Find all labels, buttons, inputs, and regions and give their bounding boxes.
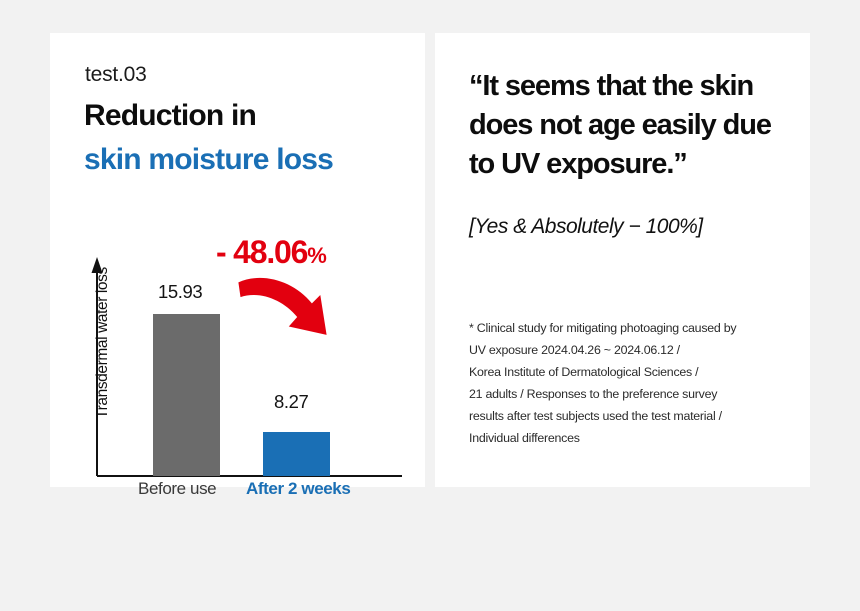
footnote-line: 21 adults / Responses to the preference …	[469, 383, 799, 405]
red-down-arrow-icon	[238, 278, 326, 335]
x-axis-tick-before-use: Before use	[138, 479, 216, 499]
bar-before-use	[153, 314, 220, 476]
footnote-line: results after test subjects used the tes…	[469, 405, 799, 427]
bar-chart: Transdermal water loss 15.93 8.27 - 48.0…	[50, 213, 425, 487]
survey-quote-result: [Yes & Absolutely − 100%]	[469, 215, 703, 239]
footnote-line: * Clinical study for mitigating photoagi…	[469, 317, 799, 339]
quote-card-right: “It seems that the skin does not age eas…	[435, 33, 810, 487]
reduction-value: - 48.06	[216, 234, 307, 270]
reduction-annotation: - 48.06%	[216, 234, 326, 271]
page-root: test.03 Reduction in skin moisture loss	[0, 0, 860, 611]
bar-after-2-weeks	[263, 432, 330, 476]
footnote-line: UV exposure 2024.04.26 ~ 2024.06.12 /	[469, 339, 799, 361]
card-heading-line-2: skin moisture loss	[84, 143, 333, 177]
bar-value-label-before: 15.93	[158, 281, 202, 303]
footnote-line: Individual differences	[469, 427, 799, 449]
card-heading-line-1: Reduction in	[84, 99, 256, 133]
clinical-study-footnote: * Clinical study for mitigating photoagi…	[469, 317, 799, 449]
footnote-line: Korea Institute of Dermatological Scienc…	[469, 361, 799, 383]
y-axis-label: Transdermal water loss	[94, 243, 112, 443]
stat-card-left: test.03 Reduction in skin moisture loss	[50, 33, 425, 487]
x-axis-tick-after-2-weeks: After 2 weeks	[246, 479, 350, 499]
bar-value-label-after: 8.27	[274, 391, 308, 413]
survey-quote: “It seems that the skin does not age eas…	[469, 67, 799, 184]
test-number-label: test.03	[85, 63, 147, 87]
reduction-percent-sign: %	[307, 243, 325, 268]
